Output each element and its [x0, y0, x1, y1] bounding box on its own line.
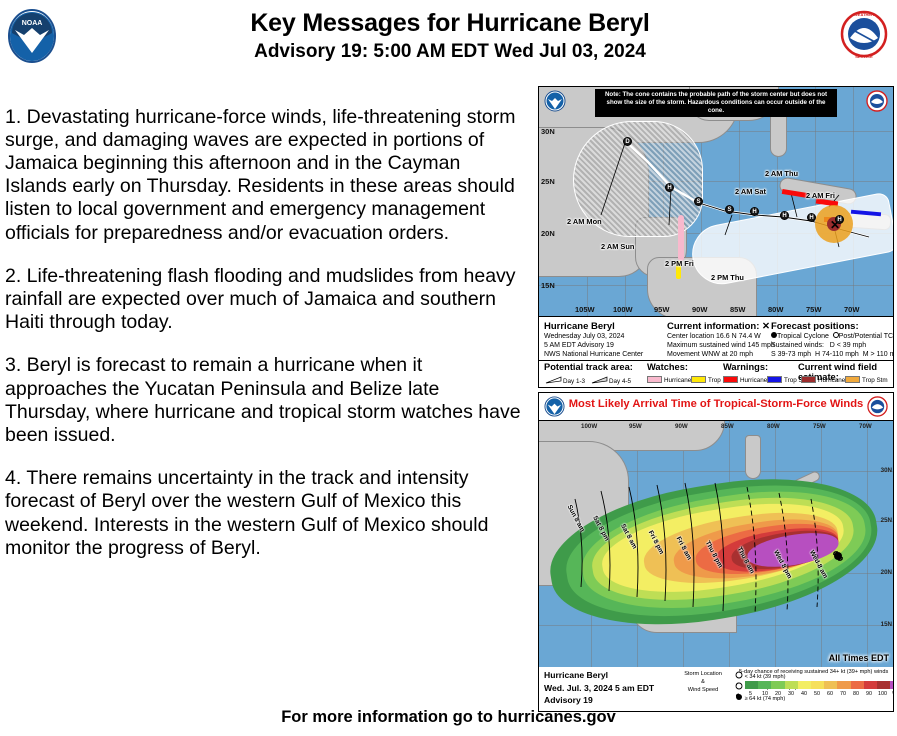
key-message-1: 1. Devastating hurricane-force winds, li…: [5, 106, 525, 245]
forecast-positions-heading: Forecast positions:: [771, 321, 894, 332]
forecast-time-label: 2 AM Fri: [806, 191, 835, 200]
arr-lon-75w: 75W: [813, 423, 826, 430]
current-information-heading: Current information: ✕: [667, 321, 775, 332]
arrival-map-header: Most Likely Arrival Time of Tropical-Sto…: [539, 393, 893, 420]
forecast-time-label: 2 AM Thu: [765, 169, 798, 178]
warn-hurricane-label: Hurricane: [740, 377, 767, 384]
svg-text:WEATHER: WEATHER: [854, 12, 874, 17]
nws-logo-map: [866, 90, 888, 112]
storm-name: Hurricane Beryl: [544, 321, 643, 332]
nws-logo-arrival: [867, 396, 888, 417]
scale-swatch: [785, 681, 798, 689]
watch-hurricane-strip: [678, 215, 684, 261]
forecast-positions-column: Forecast positions: Tropical Cyclone Pos…: [771, 321, 894, 360]
key-message-3: 3. Beryl is forecast to remain a hurrica…: [5, 354, 525, 447]
scale-num-40: 40: [801, 691, 807, 697]
wind-speed-label: Wind Speed: [675, 687, 731, 695]
scale-swatch: [837, 681, 850, 689]
watch-hurricane-item: Hurricane: [647, 376, 691, 384]
filled-cyclone-icon: [735, 693, 743, 701]
watches-heading: Watches:: [647, 362, 688, 372]
sustained-winds-row: Sustained winds: D < 39 mph: [771, 341, 894, 350]
warnings-heading: Warnings:: [723, 362, 768, 372]
current-information-label: Current information:: [667, 321, 759, 332]
scale-num-5: 5: [749, 691, 752, 697]
issuing-agency: NWS National Hurricane Center: [544, 350, 643, 359]
tropical-cyclone-label: Tropical Cyclone: [777, 333, 829, 340]
arr-lon-100w: 100W: [581, 423, 597, 430]
arr-lon-80w: 80W: [767, 423, 780, 430]
day-1-3-item: Day 1-3: [545, 376, 585, 385]
forecast-time-label: 2 AM Sun: [601, 242, 634, 251]
forecast-track-line: [539, 87, 893, 317]
scale-swatch: [798, 681, 811, 689]
cone-day13-icon: [545, 376, 563, 384]
forecast-node[interactable]: S: [725, 205, 734, 214]
scale-num-90: 90: [866, 691, 872, 697]
forecast-node[interactable]: H: [835, 215, 844, 224]
arrival-contours: [539, 421, 893, 668]
wind-tropstm-swatch: [845, 376, 860, 383]
wind-tropstm-label: Trop Stm: [862, 377, 888, 384]
forecast-time-label: 2 PM Thu: [711, 273, 744, 282]
arrival-map-canvas[interactable]: Sun 8 am Sat 8 pm Sat 8 am Fri 8 pm Fri …: [539, 420, 893, 668]
forecast-symbol-row: Tropical Cyclone Post/Potential TC: [771, 332, 894, 341]
scale-swatch: [824, 681, 837, 689]
forecast-node[interactable]: D: [623, 137, 632, 146]
wind-cat-d: D < 39 mph: [830, 342, 866, 349]
scale-unit: %: [892, 691, 894, 697]
scale-swatch: [811, 681, 824, 689]
track-map-canvas[interactable]: 30N 25N 20N 15N 105W 100W 95W 90W 85W 80…: [539, 87, 893, 317]
potential-track-heading: Potential track area:: [544, 362, 633, 372]
warn-hurricane-item: Hurricane: [723, 376, 767, 384]
noaa-logo-map: [544, 90, 566, 112]
scale-num-70: 70: [840, 691, 846, 697]
scale-swatch: [877, 681, 890, 689]
wind-hurricane-label: Hurricane: [818, 377, 845, 384]
arr-lon-95w: 95W: [629, 423, 642, 430]
warn-tropstm-swatch: [767, 376, 782, 383]
svg-text:NOAA: NOAA: [22, 20, 43, 27]
arrival-advisory-line: Advisory 19: [544, 694, 654, 707]
arrival-time-map[interactable]: Most Likely Arrival Time of Tropical-Sto…: [538, 392, 894, 712]
forecast-node[interactable]: H: [750, 207, 759, 216]
scale-swatch: [851, 681, 864, 689]
noaa-logo: NOAA: [6, 8, 58, 66]
forecast-track-map[interactable]: 30N 25N 20N 15N 105W 100W 95W 90W 85W 80…: [538, 86, 894, 388]
day-4-5-item: Day 4-5: [591, 376, 631, 385]
track-info-panel: Hurricane Beryl Wednesday July 03, 2024 …: [539, 318, 893, 387]
forecast-node[interactable]: S: [694, 197, 703, 206]
arr-lon-85w: 85W: [721, 423, 734, 430]
scale-num-50: 50: [814, 691, 820, 697]
arr-lat-25n: 25N: [881, 517, 892, 524]
arr-lat-30n: 30N: [881, 467, 892, 474]
day-4-5-label: Day 4-5: [609, 378, 631, 385]
day-1-3-label: Day 1-3: [563, 378, 585, 385]
arrival-info-panel: Hurricane Beryl Wed. Jul. 3, 2024 5 am E…: [539, 667, 893, 711]
center-location: Center location 16.6 N 74.4 W: [667, 332, 775, 341]
page-title: Key Messages for Hurricane Beryl: [120, 8, 780, 38]
scale-num-60: 60: [827, 691, 833, 697]
scale-num-30: 30: [788, 691, 794, 697]
scale-num-80: 80: [853, 691, 859, 697]
footer-text: For more information go to hurricanes.go…: [0, 708, 897, 727]
scale-swatch: [771, 681, 784, 689]
scale-num-20: 20: [775, 691, 781, 697]
advisory-subtitle: Advisory 19: 5:00 AM EDT Wed Jul 03, 202…: [120, 39, 780, 64]
arr-lon-70w: 70W: [859, 423, 872, 430]
forecast-node[interactable]: H: [780, 211, 789, 220]
scale-swatch: [745, 681, 758, 689]
wind-tropstm-item: Trop Stm: [845, 376, 888, 384]
page-header: NOAA WEATHER SERVICE Key Messages for Hu…: [0, 0, 897, 78]
max-sustained-wind: Maximum sustained wind 145 mph: [667, 341, 775, 350]
sustained-winds-label: Sustained winds:: [771, 342, 824, 349]
issue-date: Wednesday July 03, 2024: [544, 332, 643, 341]
wind-cat-m: M > 110 mph: [863, 351, 894, 358]
movement: Movement WNW at 20 mph: [667, 350, 775, 359]
forecast-node[interactable]: H: [665, 183, 674, 192]
wind-categories-row: S 39-73 mph H 74-110 mph M > 110 mph: [771, 350, 894, 359]
key-messages-list: 1. Devastating hurricane-force winds, li…: [5, 86, 525, 560]
current-information-column: Current information: ✕ Center location 1…: [667, 321, 775, 360]
cone-day45-icon: [591, 376, 609, 384]
cone-note: Note: The cone contains the probable pat…: [595, 89, 837, 117]
forecast-time-label: 2 AM Mon: [567, 217, 602, 226]
key-message-4: 4. There remains uncertainty in the trac…: [5, 467, 525, 560]
scale-swatch: [890, 681, 894, 689]
title-block: Key Messages for Hurricane Beryl Advisor…: [120, 8, 780, 64]
watch-hurricane-swatch: [647, 376, 662, 383]
storm-id-column: Hurricane Beryl Wednesday July 03, 2024 …: [544, 321, 643, 360]
track-legend-strip: Potential track area: Day 1-3 Day 4-5 Wa…: [539, 360, 893, 387]
watch-tropstm-swatch: [691, 376, 706, 383]
ampersand-label: &: [675, 679, 731, 687]
open-cyclone-icon: [735, 682, 743, 690]
warn-hurricane-swatch: [723, 376, 738, 383]
scale-swatch: [758, 681, 771, 689]
all-times-label: All Times EDT: [829, 653, 889, 663]
forecast-time-label: 2 AM Sat: [735, 187, 766, 196]
wind-hurricane-item: Hurricane: [801, 376, 845, 384]
watch-hurricane-label: Hurricane: [664, 377, 691, 384]
probability-color-scale: [745, 681, 894, 689]
forecast-node[interactable]: H: [807, 213, 816, 222]
arrival-storm-name: Hurricane Beryl: [544, 669, 654, 682]
scale-num-100: 100: [878, 691, 887, 697]
key-message-2: 2. Life-threatening flash flooding and m…: [5, 265, 525, 335]
wind-cat-s: S 39-73 mph: [771, 351, 811, 358]
post-potential-label: Post/Potential TC: [839, 333, 893, 340]
nws-logo: WEATHER SERVICE: [839, 8, 889, 64]
wind-hurricane-swatch: [801, 376, 816, 383]
probability-scale-title: 5-day chance of receiving sustained 34+ …: [739, 669, 888, 677]
arr-lon-90w: 90W: [675, 423, 688, 430]
arrival-date-line: Wed. Jul. 3, 2024 5 am EDT: [544, 682, 654, 695]
scale-num-10: 10: [762, 691, 768, 697]
arr-lat-15n: 15N: [881, 621, 892, 628]
advisory-number: 5 AM EDT Advisory 19: [544, 341, 643, 350]
storm-location-label: Storm Location: [675, 671, 731, 679]
scale-swatch: [864, 681, 877, 689]
current-position-symbol: ✕: [762, 321, 770, 332]
arrival-map-title: Most Likely Arrival Time of Tropical-Sto…: [539, 398, 893, 410]
svg-text:SERVICE: SERVICE: [855, 54, 873, 59]
storm-location-symbol: [831, 549, 845, 563]
forecast-time-label: 2 PM Fri: [665, 259, 694, 268]
arr-lat-20n: 20N: [881, 569, 892, 576]
wind-cat-h: H 74-110 mph: [815, 351, 859, 358]
